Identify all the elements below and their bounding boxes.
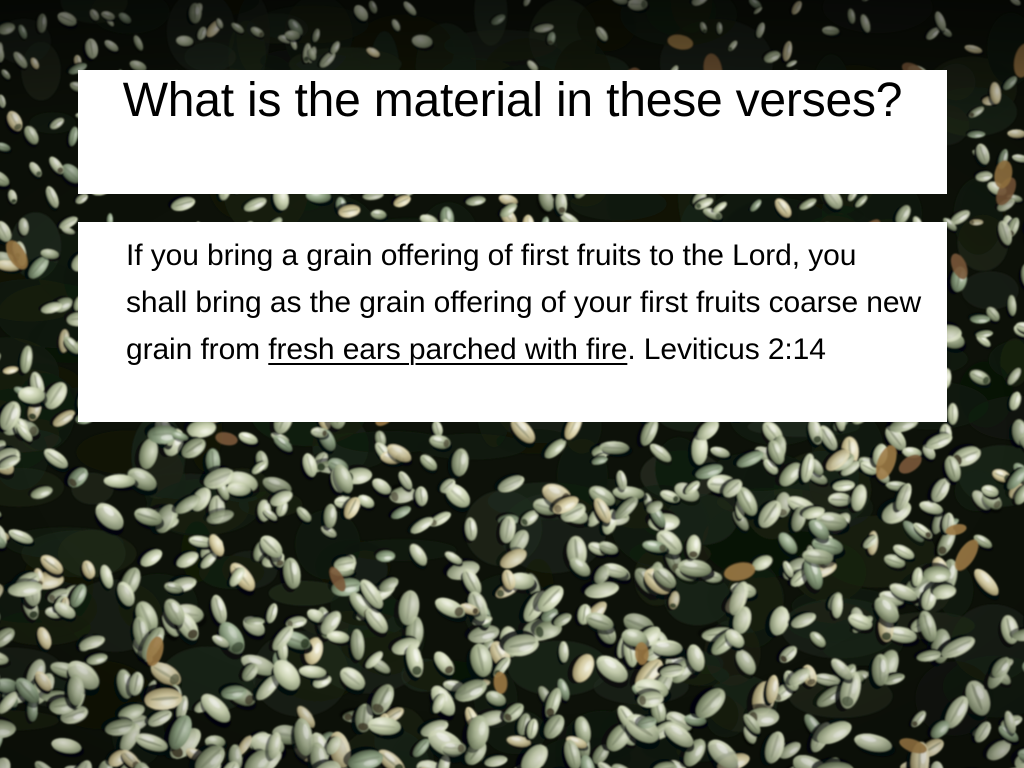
slide-canvas: What is the material in these verses? If… (0, 0, 1024, 768)
title-textbox: What is the material in these verses? (78, 70, 947, 194)
body-textbox: If you bring a grain offering of first f… (78, 222, 947, 422)
scripture-segment-2: . Leviticus 2:14 (627, 333, 826, 366)
scripture-text: If you bring a grain offering of first f… (78, 222, 947, 373)
scripture-emphasis: fresh ears parched with fire (268, 333, 627, 366)
slide-title: What is the material in these verses? (78, 70, 947, 129)
